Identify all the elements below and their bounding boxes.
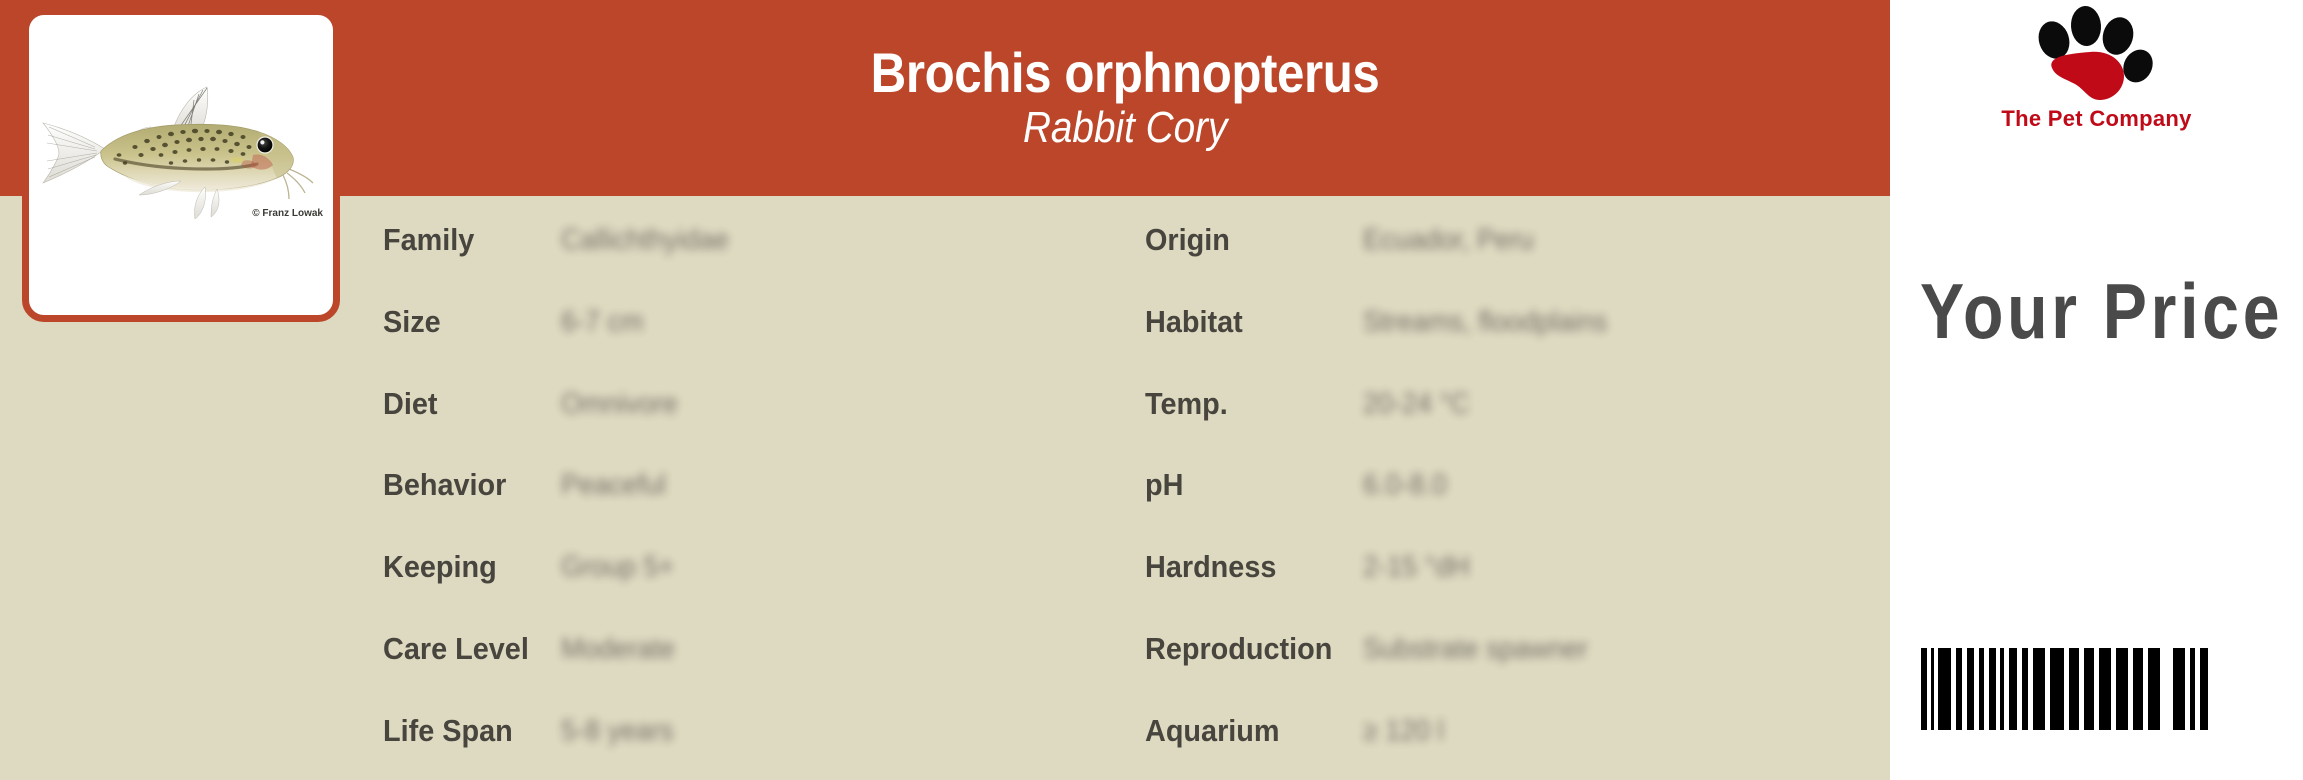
attribute-label: Keeping [383, 549, 497, 585]
attribute-label: Family [383, 222, 474, 258]
attribute-grid: FamilyCallichthyidaeSize6-7 cmDietOmnivo… [383, 196, 1883, 780]
attribute-label: Care Level [383, 631, 529, 667]
attribute-row: HabitatStreams, floodplains [1145, 302, 1883, 342]
attribute-label: Habitat [1145, 304, 1243, 340]
attribute-row: FamilyCallichthyidae [383, 220, 1123, 260]
attribute-row: BehaviorPeaceful [383, 465, 1123, 505]
attribute-row: Hardness2-15 °dH [1145, 547, 1883, 587]
barcode-bar [2200, 648, 2208, 730]
attribute-value: Streams, floodplains [1363, 306, 1607, 339]
barcode-bar [2033, 648, 2045, 730]
attribute-value: 2-15 °dH [1363, 551, 1470, 584]
paw-print-icon [2028, 4, 2160, 104]
attribute-row: OriginEcuador, Peru [1145, 220, 1883, 260]
species-photo: © Franz Lowak [29, 15, 333, 315]
attribute-label: Behavior [383, 467, 506, 503]
attribute-label: Aquarium [1145, 713, 1280, 749]
species-photo-frame: © Franz Lowak [22, 8, 340, 322]
attribute-row: Size6-7 cm [383, 302, 1123, 342]
attribute-value: Omnivore [561, 388, 678, 421]
attribute-row: Aquarium≥ 120 l [1145, 711, 1883, 751]
product-info-card: Brochis orphnopterus Rabbit Cory [0, 0, 2303, 780]
barcode-bar [2099, 648, 2111, 730]
price-label: Your Price [1920, 268, 2283, 357]
brand-logo: The Pet Company [1890, 4, 2303, 144]
header-titles: Brochis orphnopterus Rabbit Cory [360, 0, 1890, 196]
attribute-value: Ecuador, Peru [1363, 224, 1534, 257]
attribute-value: ≥ 120 l [1363, 715, 1444, 748]
attribute-label: pH [1145, 467, 1183, 503]
barcode-bar [2116, 648, 2128, 730]
attribute-row: DietOmnivore [383, 384, 1123, 424]
attribute-label: Life Span [383, 713, 513, 749]
attribute-value: Callichthyidae [561, 224, 729, 257]
attribute-label: Hardness [1145, 549, 1276, 585]
attribute-row: Care LevelModerate [383, 629, 1123, 669]
common-name: Rabbit Cory [1023, 103, 1227, 152]
attribute-row: KeepingGroup 5+ [383, 547, 1123, 587]
attribute-row: ReproductionSubstrate spawner [1145, 629, 1883, 669]
photo-credit: © Franz Lowak [252, 208, 323, 219]
attribute-label: Diet [383, 386, 437, 422]
attribute-value: 5-8 years [561, 715, 673, 748]
attribute-value: Moderate [561, 633, 675, 666]
brand-name: The Pet Company [1890, 106, 2303, 132]
attribute-value: Peaceful [561, 469, 666, 502]
attribute-row: Temp.20-24 °C [1145, 384, 1883, 424]
barcode-bar [2069, 648, 2079, 730]
attribute-label: Origin [1145, 222, 1230, 258]
attribute-label: Reproduction [1145, 631, 1332, 667]
attribute-value: 6-7 cm [561, 306, 643, 339]
barcode-bar [2084, 648, 2094, 730]
attribute-column-left: FamilyCallichthyidaeSize6-7 cmDietOmnivo… [383, 196, 1123, 780]
attribute-label: Temp. [1145, 386, 1228, 422]
price-panel: The Pet Company Your Price [1890, 0, 2303, 780]
attribute-column-right: OriginEcuador, PeruHabitatStreams, flood… [1145, 196, 1883, 780]
barcode-space [2160, 648, 2173, 730]
barcode-bar [2133, 648, 2143, 730]
attribute-value: 20-24 °C [1363, 388, 1470, 421]
attribute-row: pH6.0-8.0 [1145, 465, 1883, 505]
barcode-bar [1938, 648, 1951, 730]
barcode-bar [1989, 648, 1996, 730]
barcode-bar [2009, 648, 2017, 730]
attribute-row: Life Span5-8 years [383, 711, 1123, 751]
barcode [1921, 648, 2208, 730]
attribute-value: Substrate spawner [1363, 633, 1588, 666]
attribute-value: Group 5+ [561, 551, 674, 584]
barcode-bar [2148, 648, 2160, 730]
barcode-bar [2050, 648, 2064, 730]
barcode-bar [1967, 648, 1974, 730]
barcode-bar [2173, 648, 2185, 730]
scientific-name: Brochis orphnopterus [871, 44, 1380, 101]
attribute-value: 6.0-8.0 [1363, 469, 1447, 502]
attribute-label: Size [383, 304, 441, 340]
